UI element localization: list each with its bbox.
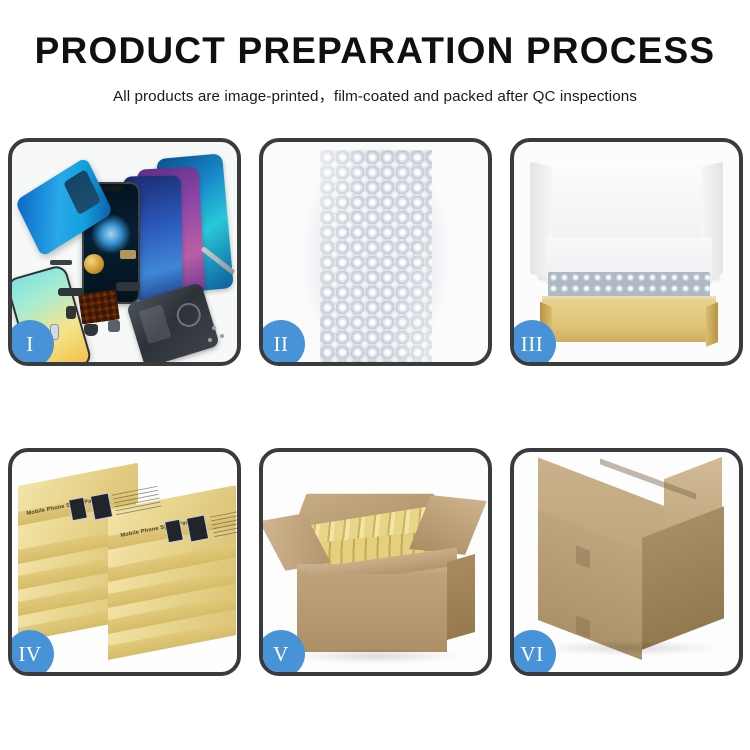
mailer-box-front [540,302,718,342]
step-badge-2: II [259,320,305,366]
page-subtitle: All products are image-printed，film-coat… [0,84,750,106]
step-badge-5: V [259,630,305,676]
process-steps-grid: I II [8,138,744,678]
step-panel-4: Mobile Phone Spare Parts Mobile Phone Sp… [8,448,241,676]
step-panel-3: III [510,138,743,366]
header: PRODUCT PREPARATION PROCESS All products… [0,0,750,106]
step-panel-5: V [259,448,492,676]
step-panel-2: II [259,138,492,366]
step-badge-3: III [510,320,556,366]
page-title: PRODUCT PREPARATION PROCESS [0,30,750,73]
screw-2 [220,334,224,338]
step-badge-1: I [8,320,54,366]
screw-3 [208,338,212,342]
bubble-wrap-sheet [320,150,432,362]
speaker-part [84,324,98,336]
step-badge-6: VI [510,630,556,676]
button-part [108,320,120,332]
small-part-c [66,306,76,319]
flex-cable-b [116,282,140,291]
step-panel-6: VI [510,448,743,676]
spare-parts-box-top-a: Mobile Phone Spare Parts [18,486,138,530]
step-panel-1: I [8,138,241,366]
screw-1 [212,326,216,330]
carton-side-face [447,554,475,640]
product-preparation-infographic: PRODUCT PREPARATION PROCESS All products… [0,0,750,750]
gold-coil-part [84,254,104,274]
sealed-carton-shadow [540,640,722,656]
flex-cable-a [58,288,84,296]
step-badge-4: IV [8,630,54,676]
carton-front-face [297,574,447,652]
small-part-a [50,260,72,265]
carton-shadow [291,648,461,664]
bubble-wrap-gloss [320,150,432,362]
small-part-b [120,250,136,259]
